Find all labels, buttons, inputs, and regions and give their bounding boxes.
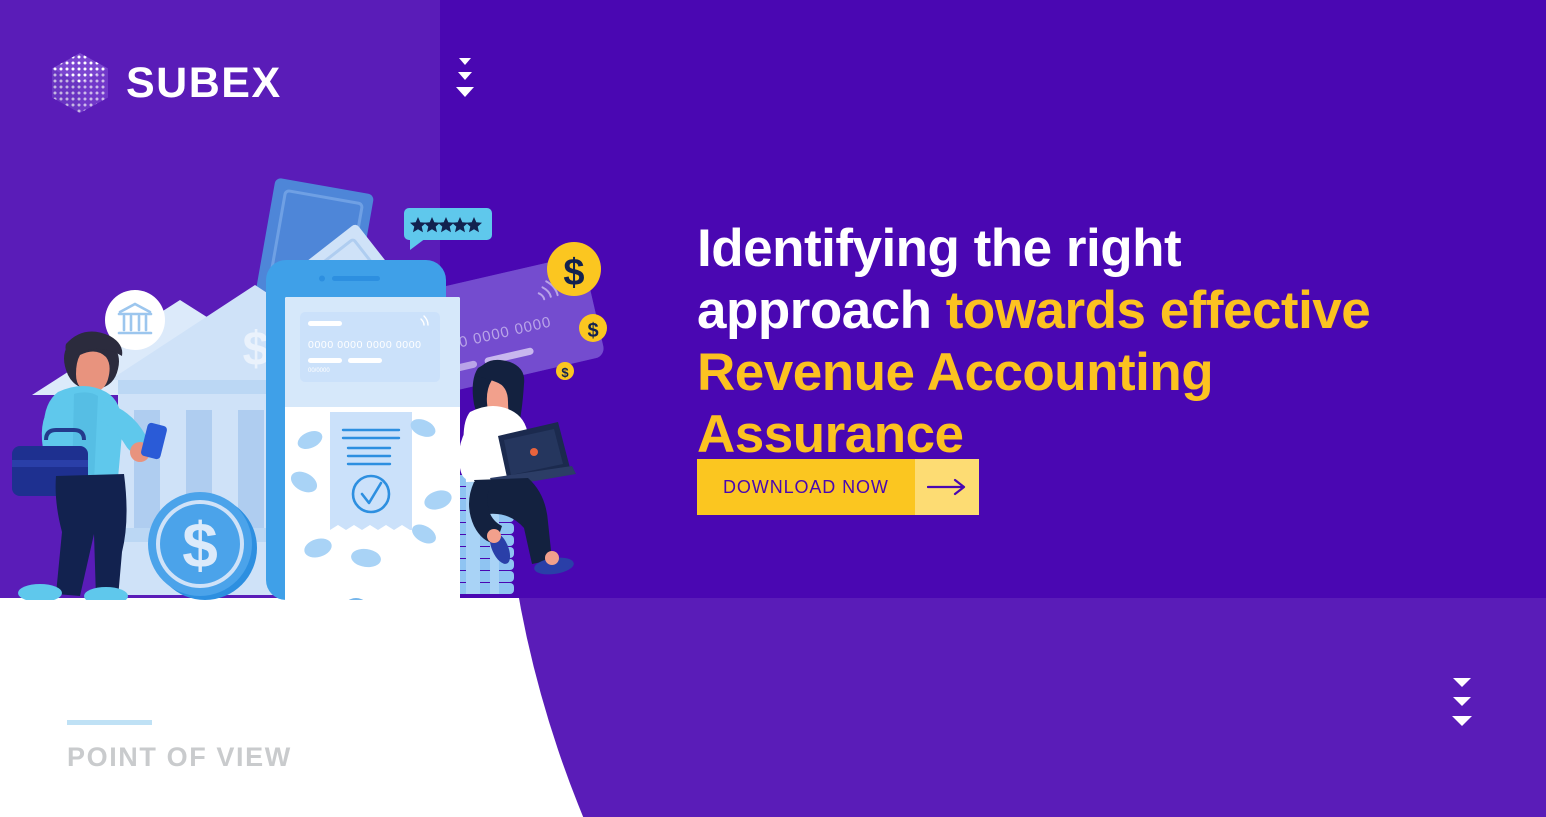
- svg-text:00/0000: 00/0000: [308, 368, 330, 374]
- accent-rule: [67, 720, 152, 725]
- triangle-down-icon: [1453, 678, 1471, 687]
- triangle-down-icon: [459, 58, 471, 65]
- point-of-view-label: POINT OF VIEW: [67, 742, 292, 773]
- receipt: [328, 412, 412, 534]
- point-of-view-block: POINT OF VIEW: [67, 720, 292, 773]
- brand-logo[interactable]: SUBEX: [50, 52, 282, 114]
- hero-illustration: $: [0, 130, 640, 600]
- triangle-down-icon: [1452, 716, 1472, 726]
- triangle-down-icon: [1453, 697, 1471, 706]
- svg-text:0000 0000 0000 0000: 0000 0000 0000 0000: [308, 339, 422, 351]
- headline-line-2-gold: towards effective: [946, 281, 1370, 340]
- headline-line-1: Identifying the right: [697, 219, 1181, 278]
- arrow-right-icon: [915, 459, 979, 515]
- smartphone: 0000 0000 0000 0000 00/0000: [266, 260, 460, 600]
- svg-text:$: $: [563, 252, 584, 294]
- svg-text:$: $: [561, 365, 569, 380]
- triangle-down-icon: [456, 87, 474, 97]
- rating-bubble: [404, 208, 492, 250]
- svg-text:$: $: [182, 509, 218, 581]
- svg-text:$: $: [243, 323, 270, 376]
- brand-name: SUBEX: [126, 62, 282, 105]
- download-now-button[interactable]: DOWNLOAD NOW: [697, 459, 979, 515]
- hexagon-dots-logo-icon: [50, 52, 110, 114]
- headline-line-3: Revenue Accounting Assurance: [697, 343, 1213, 464]
- banner-stage: $: [0, 0, 1546, 817]
- scroll-chevrons-top: [456, 58, 474, 97]
- triangle-down-icon: [458, 72, 472, 80]
- scroll-chevrons-right: [1452, 678, 1472, 726]
- svg-text:$: $: [587, 320, 598, 342]
- phone-card: 0000 0000 0000 0000 00/0000: [300, 312, 440, 382]
- download-now-label: DOWNLOAD NOW: [697, 459, 915, 515]
- headline-line-2-white: approach: [697, 281, 946, 340]
- page-title: Identifying the right approach towards e…: [697, 218, 1457, 466]
